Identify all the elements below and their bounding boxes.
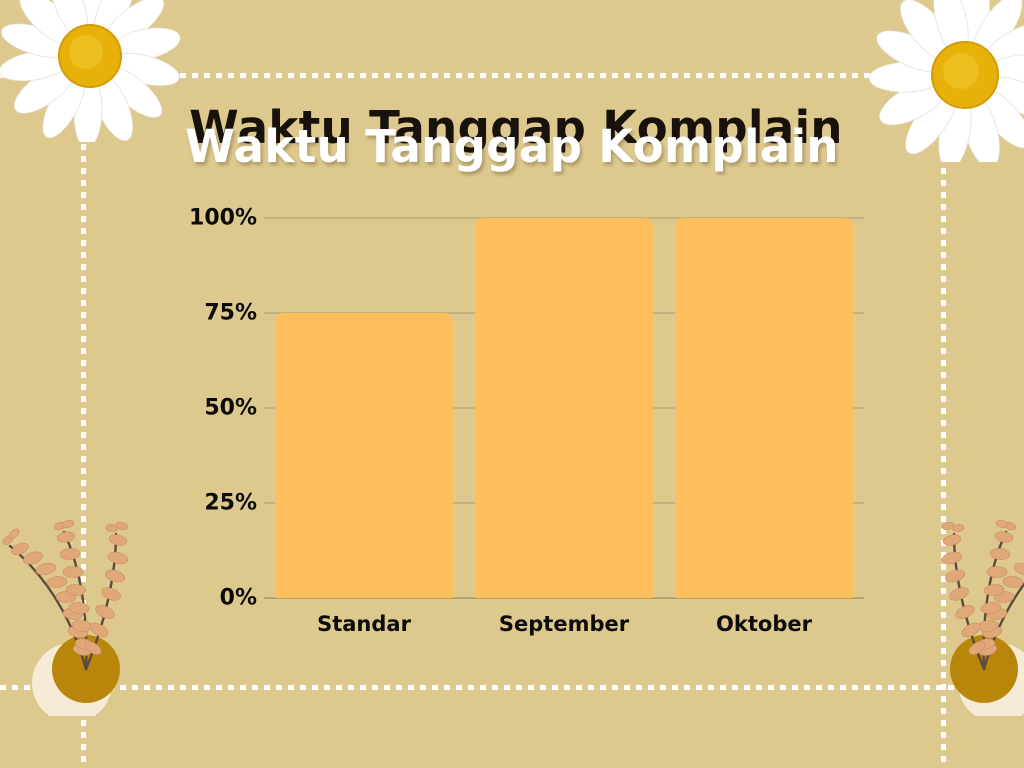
y-tick-label-50%: 50% — [147, 396, 257, 421]
frame-dotted-line-left — [81, 0, 86, 768]
daisy-flower-top-right-icon — [868, 0, 1024, 162]
bar-oktober[interactable] — [675, 218, 853, 598]
frame-dotted-line-right — [941, 0, 946, 768]
dried-branch-bottom-right-icon — [856, 436, 1024, 716]
chart-plot-area — [264, 218, 864, 598]
chart-bars — [264, 218, 864, 598]
daisy-flower-top-left-icon — [0, 0, 190, 142]
frame-dotted-line-bottom — [0, 685, 1024, 690]
y-tick-label-75%: 75% — [147, 301, 257, 326]
slide-canvas: Waktu Tanggap Komplain Waktu Tanggap Kom… — [0, 0, 1024, 768]
chart-x-axis: StandarSeptemberOktober — [264, 612, 864, 646]
frame-dotted-line-top — [0, 73, 1024, 78]
x-tick-label-standar: Standar — [264, 612, 464, 636]
page-title-shadow-copy: Waktu Tanggap Komplain — [4, 105, 1024, 150]
page-title-main: Waktu Tanggap Komplain — [0, 124, 1024, 169]
x-tick-label-september: September — [464, 612, 664, 636]
bar-september[interactable] — [475, 218, 653, 598]
y-tick-label-100%: 100% — [147, 206, 257, 231]
y-tick-label-25%: 25% — [147, 491, 257, 516]
x-tick-label-oktober: Oktober — [664, 612, 864, 636]
chart-y-axis: 0%25%50%75%100% — [147, 218, 257, 598]
y-tick-label-0%: 0% — [147, 586, 257, 611]
bar-standar[interactable] — [275, 313, 453, 598]
